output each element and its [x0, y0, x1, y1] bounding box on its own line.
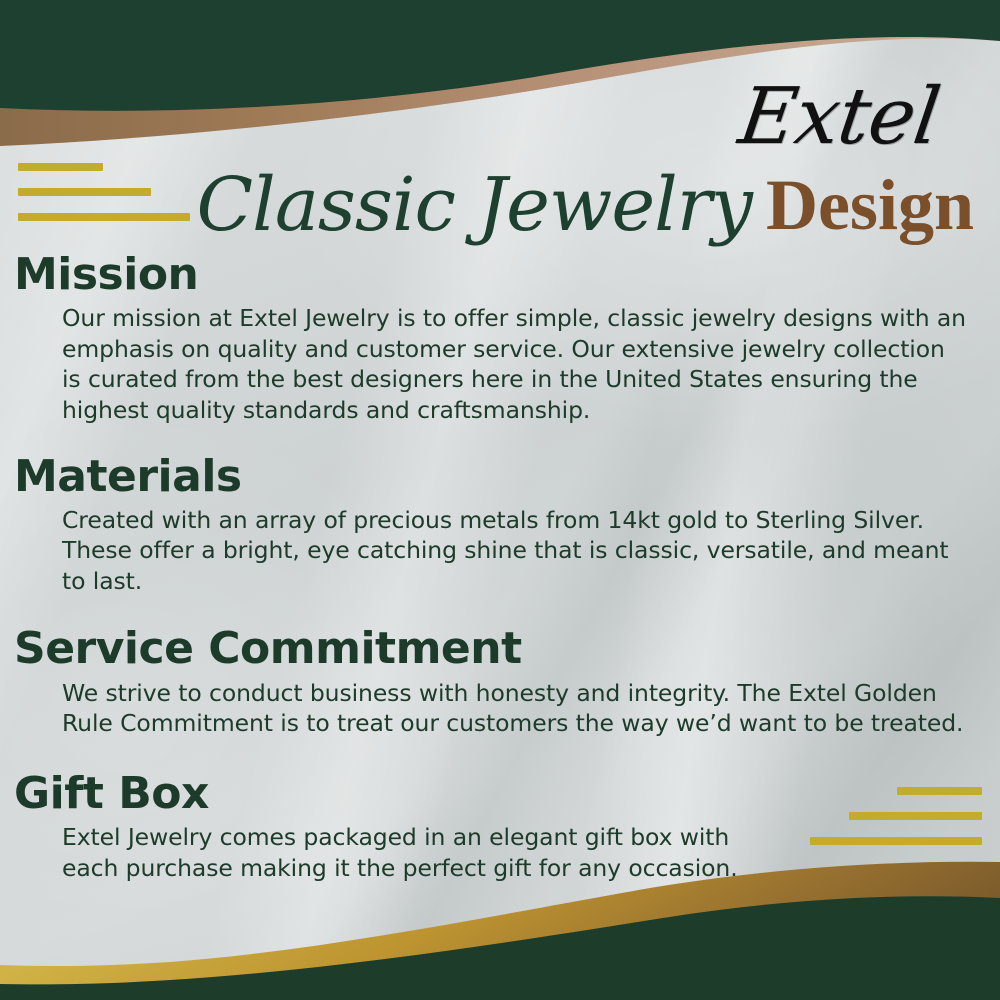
section-materials: Materials Created with an array of preci… [0, 454, 1000, 597]
section-body-gift-box: Extel Jewelry comes packaged in an elega… [0, 822, 1000, 883]
brand-logo: Extel [734, 78, 943, 156]
section-gift-box: Gift Box Extel Jewelry comes packaged in… [0, 771, 1000, 883]
poster-canvas: Extel Classic Jewelry Design Mission Our… [0, 0, 1000, 1000]
bottom-green-band [0, 896, 1000, 1000]
content-sections: Mission Our mission at Extel Jewelry is … [0, 252, 1000, 883]
section-heading-service-commitment: Service Commitment [0, 626, 1000, 671]
section-body-service-commitment: We strive to conduct business with hones… [0, 678, 1000, 739]
title-serif-part: Design [766, 169, 974, 241]
section-service-commitment: Service Commitment We strive to conduct … [0, 626, 1000, 738]
title-script-part: Classic Jewelry [197, 168, 752, 242]
section-heading-materials: Materials [0, 454, 1000, 499]
section-mission: Mission Our mission at Extel Jewelry is … [0, 252, 1000, 426]
section-body-mission: Our mission at Extel Jewelry is to offer… [0, 303, 1000, 425]
section-body-materials: Created with an array of precious metals… [0, 505, 1000, 597]
section-heading-mission: Mission [0, 252, 1000, 297]
section-heading-gift-box: Gift Box [0, 771, 1000, 816]
poster-title: Classic Jewelry Design [0, 160, 974, 250]
